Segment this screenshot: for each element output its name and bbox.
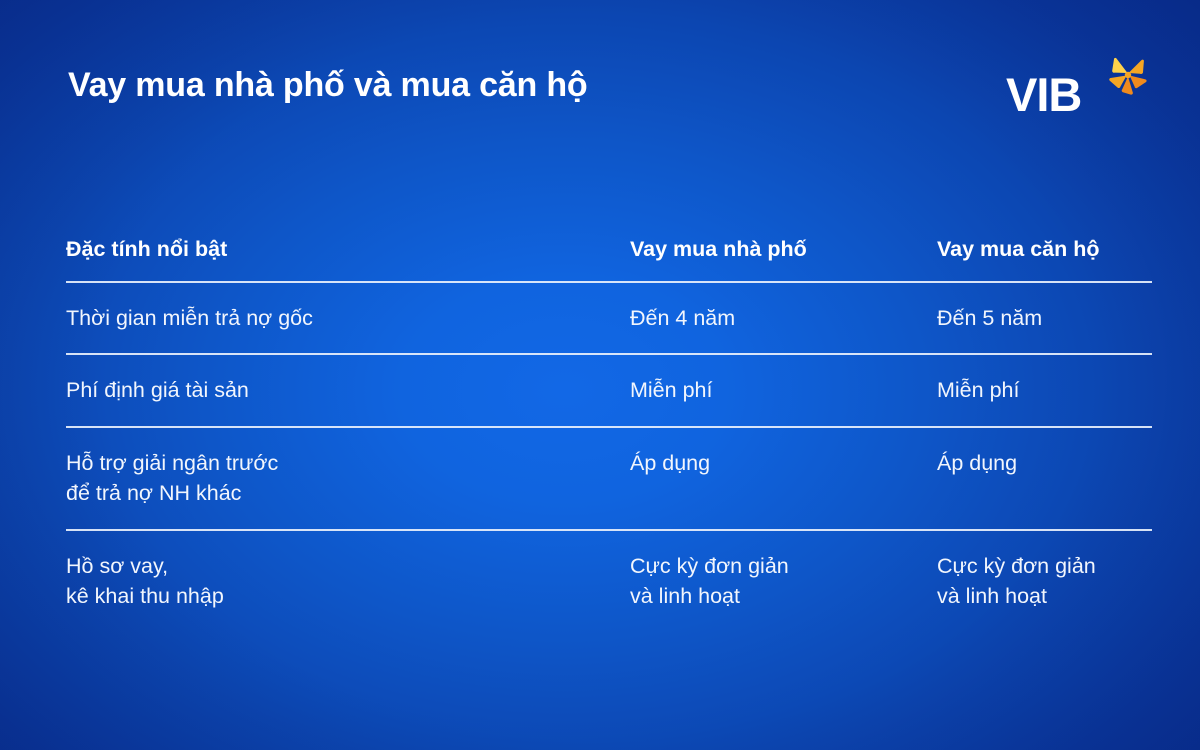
table-row: Thời gian miễn trả nợ gốc Đến 4 năm Đến …: [66, 283, 1152, 354]
cell-line: Miễn phí: [937, 375, 1152, 406]
vib-wordmark: VIB: [1006, 71, 1081, 118]
cell-house-loan: Cực kỳ đơn giản và linh hoạt: [630, 551, 937, 612]
table-row: Hỗ trợ giải ngân trước để trả nợ NH khác…: [66, 428, 1152, 529]
comparison-table: Đặc tính nổi bật Vay mua nhà phố Vay mua…: [66, 236, 1152, 632]
cell-line: Phí định giá tài sản: [66, 375, 630, 406]
vib-butterfly-logo-icon: [1104, 56, 1152, 100]
cell-line: Hỗ trợ giải ngân trước: [66, 448, 630, 479]
column-header-feature: Đặc tính nổi bật: [66, 236, 630, 263]
cell-line: Đến 4 năm: [630, 303, 937, 334]
vib-logo: VIB: [1006, 56, 1158, 118]
table-row: Phí định giá tài sản Miễn phí Miễn phí: [66, 355, 1152, 426]
cell-line: Miễn phí: [630, 375, 937, 406]
cell-line: Áp dụng: [937, 448, 1152, 479]
cell-apartment-loan: Miễn phí: [937, 375, 1152, 406]
page-title: Vay mua nhà phố và mua căn hộ: [68, 66, 587, 105]
cell-house-loan: Đến 4 năm: [630, 303, 937, 334]
cell-line: Đến 5 năm: [937, 303, 1152, 334]
cell-house-loan: Miễn phí: [630, 375, 937, 406]
cell-apartment-loan: Đến 5 năm: [937, 303, 1152, 334]
cell-apartment-loan: Áp dụng: [937, 448, 1152, 479]
cell-line: Cực kỳ đơn giản: [630, 551, 937, 582]
cell-house-loan: Áp dụng: [630, 448, 937, 479]
cell-line: để trả nợ NH khác: [66, 478, 630, 509]
column-header-house-loan: Vay mua nhà phố: [630, 236, 937, 263]
cell-feature: Phí định giá tài sản: [66, 375, 630, 406]
table-row: Hồ sơ vay, kê khai thu nhập Cực kỳ đơn g…: [66, 531, 1152, 632]
cell-line: Hồ sơ vay,: [66, 551, 630, 582]
cell-apartment-loan: Cực kỳ đơn giản và linh hoạt: [937, 551, 1152, 612]
cell-line: và linh hoạt: [630, 581, 937, 612]
cell-feature: Hồ sơ vay, kê khai thu nhập: [66, 551, 630, 612]
cell-line: và linh hoạt: [937, 581, 1152, 612]
cell-line: kê khai thu nhập: [66, 581, 630, 612]
cell-line: Thời gian miễn trả nợ gốc: [66, 303, 630, 334]
table-header-row: Đặc tính nổi bật Vay mua nhà phố Vay mua…: [66, 236, 1152, 281]
cell-feature: Thời gian miễn trả nợ gốc: [66, 303, 630, 334]
cell-line: Áp dụng: [630, 448, 937, 479]
cell-feature: Hỗ trợ giải ngân trước để trả nợ NH khác: [66, 448, 630, 509]
cell-line: Cực kỳ đơn giản: [937, 551, 1152, 582]
slide-page: Vay mua nhà phố và mua căn hộ VIB Đặc tí…: [0, 0, 1200, 750]
column-header-apartment-loan: Vay mua căn hộ: [937, 236, 1152, 263]
